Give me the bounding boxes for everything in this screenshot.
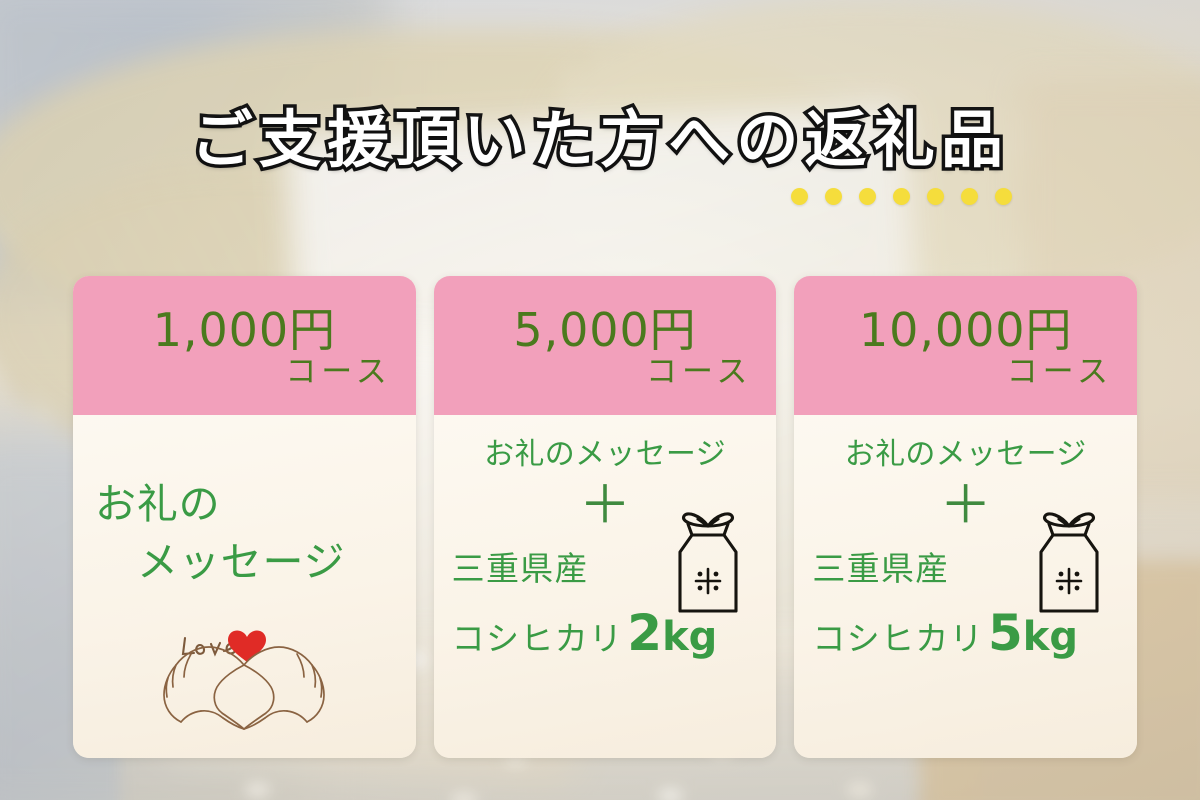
rice-bag-icon-5000 [664, 507, 752, 624]
card-course-1000: コース [285, 355, 391, 389]
card-message-5000: お礼のメッセージ [434, 415, 777, 473]
dot-decoration [995, 188, 1012, 205]
dot-decoration [825, 188, 842, 205]
page-title: ご支援頂いた方への返礼品 [191, 104, 1009, 175]
reward-tier-list: 1,000円 コース お礼の メッセージ [73, 276, 1137, 758]
dot-decoration [893, 188, 910, 205]
card-amount-5000: 2 [627, 604, 662, 662]
card-header-5000: 5,000円 コース [434, 276, 777, 415]
card-body-5000: お礼のメッセージ ＋ 三重県産 コシヒカリ 2 kg [434, 415, 777, 758]
card-message-10000: お礼のメッセージ [794, 415, 1137, 473]
card-header-10000: 10,000円 コース [794, 276, 1137, 415]
reward-card-5000[interactable]: 5,000円 コース お礼のメッセージ ＋ 三重県産 コシヒカリ 2 kg [434, 276, 777, 758]
card-variety-10000: コシヒカリ [812, 612, 984, 660]
card-body-1000: お礼の メッセージ [73, 415, 416, 758]
card-price-1000: 1,000円 [153, 306, 336, 354]
card-price-5000: 5,000円 [513, 306, 696, 354]
heart-hands-love-icon [151, 621, 337, 750]
dot-decoration [927, 188, 944, 205]
card-reward-text-1000: お礼の メッセージ [73, 415, 416, 591]
dot-decoration [791, 188, 808, 205]
reward-line-2: メッセージ [95, 533, 416, 591]
red-heart-icon [228, 631, 266, 662]
card-price-10000: 10,000円 [859, 306, 1072, 354]
card-body-10000: お礼のメッセージ ＋ 三重県産 コシヒカリ 5 kg [794, 415, 1137, 758]
card-variety-5000: コシヒカリ [452, 612, 624, 660]
dot-decoration [859, 188, 876, 205]
reward-card-1000[interactable]: 1,000円 コース お礼の メッセージ [73, 276, 416, 758]
reward-card-10000[interactable]: 10,000円 コース お礼のメッセージ ＋ 三重県産 コシヒカリ 5 kg [794, 276, 1137, 758]
title-dot-row [791, 188, 1012, 205]
card-course-10000: コース [1007, 355, 1113, 389]
card-header-1000: 1,000円 コース [73, 276, 416, 415]
title-block: ご支援頂いた方への返礼品 [0, 104, 1200, 175]
reward-line-1: お礼の [95, 480, 220, 528]
dot-decoration [961, 188, 978, 205]
card-amount-10000: 5 [988, 604, 1023, 662]
rice-bag-icon-10000 [1025, 507, 1113, 624]
card-course-5000: コース [646, 355, 752, 389]
